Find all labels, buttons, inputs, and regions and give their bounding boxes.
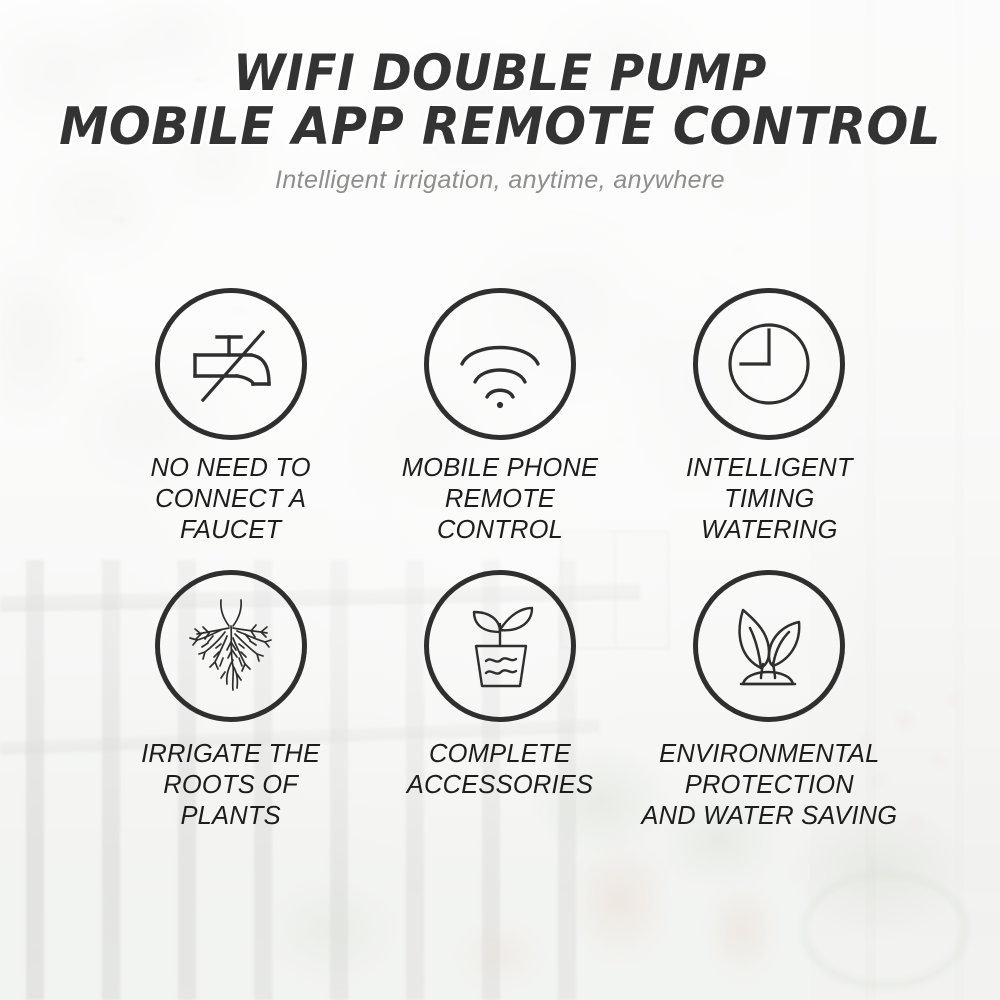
feature-caption: COMPLETE ACCESSORIES xyxy=(407,739,593,801)
feature-caption: MOBILE PHONE REMOTE CONTROL xyxy=(402,453,599,546)
icon-circle-root-irrigation xyxy=(155,570,307,722)
feature-caption: NO NEED TO CONNECT A FAUCET xyxy=(151,453,311,546)
feature-item-no-faucet: NO NEED TO CONNECT A FAUCET xyxy=(96,288,365,546)
icon-circle-mobile-remote xyxy=(424,288,576,440)
faucet-crossed-out-icon xyxy=(179,312,283,416)
wifi-icon xyxy=(448,312,552,416)
clock-icon xyxy=(717,312,821,416)
feature-caption: IRRIGATE THE ROOTS OF PLANTS xyxy=(141,739,320,832)
feature-caption: INTELLIGENT TIMING WATERING xyxy=(686,453,853,546)
feature-item-root-irrigation: IRRIGATE THE ROOTS OF PLANTS xyxy=(96,570,365,832)
subtitle: Intelligent irrigation, anytime, anywher… xyxy=(0,166,1000,195)
feature-caption: ENVIRONMENTAL PROTECTION AND WATER SAVIN… xyxy=(641,739,897,832)
infographic-banner: WIFI DOUBLE PUMP MOBILE APP REMOTE CONTR… xyxy=(0,0,1000,1000)
feature-item-complete-accessories: COMPLETE ACCESSORIES xyxy=(365,570,634,832)
icon-circle-no-faucet xyxy=(155,288,307,440)
icon-circle-complete-accessories xyxy=(424,570,576,722)
icon-circle-eco-water-saving xyxy=(693,570,845,722)
headline: WIFI DOUBLE PUMP MOBILE APP REMOTE CONTR… xyxy=(0,46,1000,154)
headline-line-1: WIFI DOUBLE PUMP xyxy=(25,46,975,100)
feature-grid: NO NEED TO CONNECT A FAUCET MOBILE PHONE… xyxy=(0,288,1000,832)
potted-plant-water-icon xyxy=(448,594,552,698)
feature-item-timing-watering: INTELLIGENT TIMING WATERING xyxy=(635,288,904,546)
leaves-mound-icon xyxy=(717,594,821,698)
headline-line-2: MOBILE APP REMOTE CONTROL xyxy=(25,100,975,154)
plant-roots-icon xyxy=(175,594,287,698)
feature-item-mobile-remote: MOBILE PHONE REMOTE CONTROL xyxy=(365,288,634,546)
icon-circle-timing-watering xyxy=(693,288,845,440)
feature-item-eco-water-saving: ENVIRONMENTAL PROTECTION AND WATER SAVIN… xyxy=(635,570,904,832)
